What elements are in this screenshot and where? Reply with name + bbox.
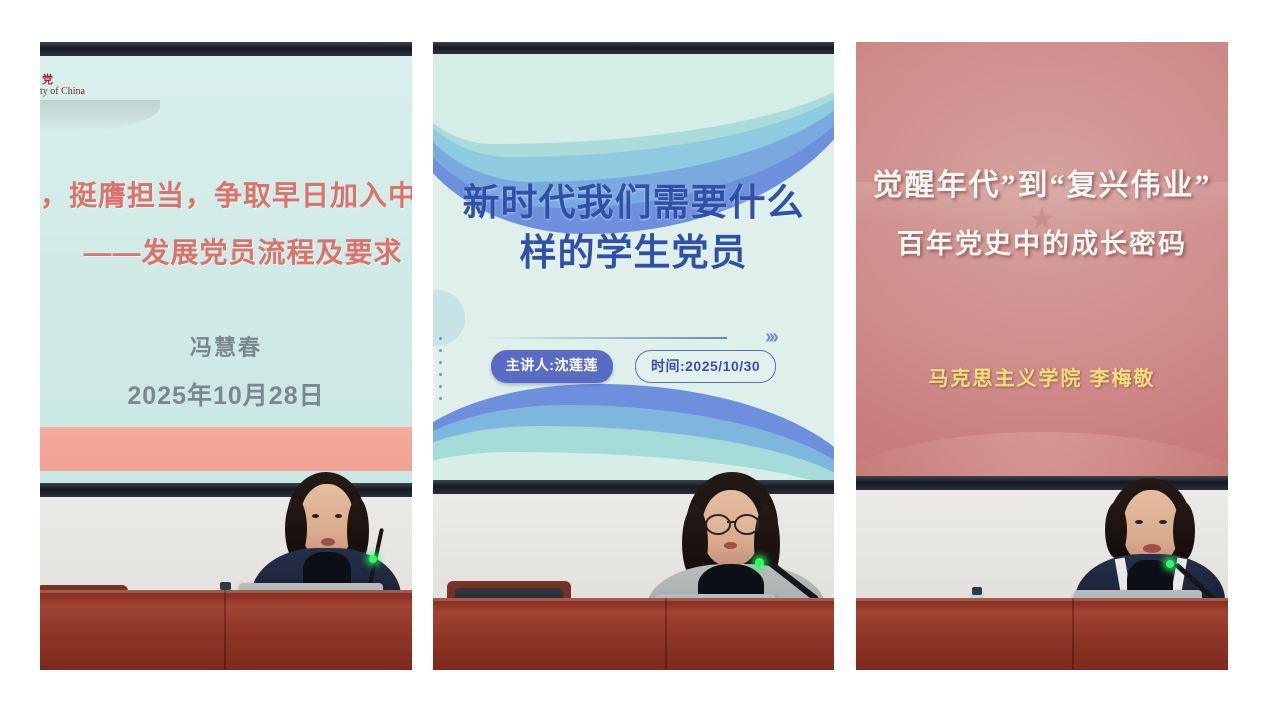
slide-3-ribbon xyxy=(856,432,1228,476)
desk-seam-1 xyxy=(224,590,226,670)
slide-1: 党 ty of China ，挺膺担当，争取早日加入中 ——发展党员流程及要求 … xyxy=(40,56,412,483)
glasses-left-lens xyxy=(705,514,731,535)
eye-left xyxy=(312,514,319,518)
mouth xyxy=(724,542,737,549)
slide-2: 新时代我们需要什么 样的学生党员 ››› 主讲人:沈莲莲 时间:2025/10/… xyxy=(433,54,834,482)
head xyxy=(300,484,354,558)
slide-2-title-line-2: 样的学生党员 xyxy=(433,228,834,278)
logo-swoosh xyxy=(40,100,160,134)
projection-screen-2: 新时代我们需要什么 样的学生党员 ››› 主讲人:沈莲莲 时间:2025/10/… xyxy=(433,42,834,494)
photo-panel-3[interactable]: ★ 觉醒年代”到“复兴伟业” 百年党史中的成长密码 马克思主义学院 李梅敬 xyxy=(856,42,1228,670)
hair-right xyxy=(1173,502,1195,560)
slide-2-title: 新时代我们需要什么 样的学生党员 xyxy=(433,178,834,278)
mouth xyxy=(1143,544,1161,553)
bottle-cap-3 xyxy=(972,587,982,595)
photo-panel-2[interactable]: 新时代我们需要什么 样的学生党员 ››› 主讲人:沈莲莲 时间:2025/10/… xyxy=(433,42,834,670)
logo-english-text: ty of China xyxy=(40,86,190,98)
hair-left xyxy=(1105,502,1127,558)
university-logo: 党 ty of China xyxy=(40,74,190,98)
slide-3: ★ 觉醒年代”到“复兴伟业” 百年党史中的成长密码 马克思主义学院 李梅敬 xyxy=(856,42,1228,476)
desk-1 xyxy=(40,590,412,670)
eye-right xyxy=(1159,520,1167,524)
slide-1-speaker-name: 冯慧春 xyxy=(40,330,412,362)
microphone-led-3 xyxy=(1166,560,1174,568)
pill-speaker: 主讲人:沈莲莲 xyxy=(491,350,613,383)
eye-right xyxy=(335,514,342,518)
slide-3-byline: 马克思主义学院 李梅敬 xyxy=(856,362,1228,391)
screen-top-frame-2 xyxy=(433,42,834,54)
mouth xyxy=(321,538,335,546)
slide-1-title-line-1: ，挺膺担当，争取早日加入中 xyxy=(40,174,412,214)
pill-time: 时间:2025/10/30 xyxy=(635,350,776,383)
slide-2-divider xyxy=(481,337,727,339)
slide-2-title-line-1: 新时代我们需要什么 xyxy=(433,178,834,228)
glasses-right-lens xyxy=(734,514,760,535)
photo-collage: 党 ty of China ，挺膺担当，争取早日加入中 ——发展党员流程及要求 … xyxy=(0,0,1268,713)
projection-screen-1: 党 ty of China ，挺膺担当，争取早日加入中 ——发展党员流程及要求 … xyxy=(40,42,412,497)
glasses-bridge xyxy=(727,521,735,523)
logo-chinese-text: 党 xyxy=(40,74,190,86)
slide-3-title-line-1: 觉醒年代”到“复兴伟业” xyxy=(856,160,1228,204)
slide-2-meta-pills: 主讲人:沈莲莲 时间:2025/10/30 xyxy=(433,350,834,383)
projection-screen-3: ★ 觉醒年代”到“复兴伟业” 百年党史中的成长密码 马克思主义学院 李梅敬 xyxy=(856,42,1228,490)
slide-1-title-line-2: ——发展党员流程及要求 xyxy=(40,231,412,271)
desk-2 xyxy=(433,598,834,670)
decor-blob xyxy=(433,290,465,346)
microphone-led-2 xyxy=(755,558,764,567)
chevrons-icon: ››› xyxy=(765,326,776,349)
screen-top-frame xyxy=(40,42,412,56)
desk-seam-3 xyxy=(1072,598,1074,670)
photo-panel-1[interactable]: 党 ty of China ，挺膺担当，争取早日加入中 ——发展党员流程及要求 … xyxy=(40,42,412,670)
desk-3 xyxy=(856,598,1228,670)
microphone-led-1 xyxy=(369,555,377,563)
slide-1-peach-band xyxy=(40,427,412,471)
slide-3-title-line-2: 百年党史中的成长密码 xyxy=(856,222,1228,261)
desk-seam-2 xyxy=(665,598,667,670)
eye-left xyxy=(1135,520,1143,524)
slide-1-date: 2025年10月28日 xyxy=(40,376,412,412)
bottle-cap-1 xyxy=(220,582,231,590)
